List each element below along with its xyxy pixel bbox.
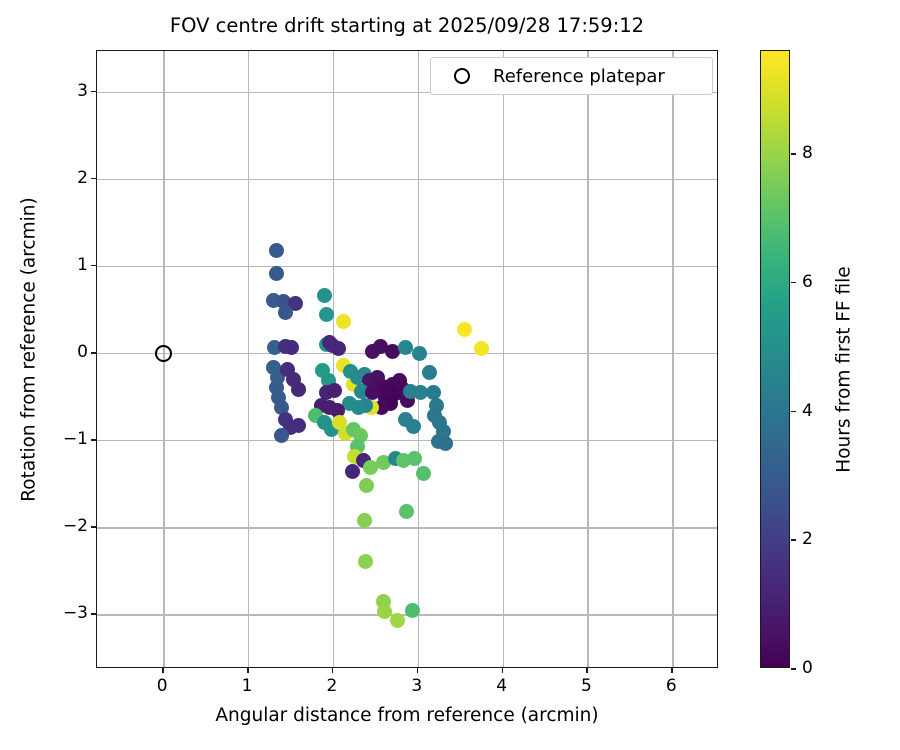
y-tick-label: −2 (63, 516, 88, 536)
y-axis-label: Rotation from reference (arcmin) (19, 41, 40, 659)
colorbar-tick-mark (791, 153, 796, 155)
figure-canvas: FOV centre drift starting at 2025/09/28 … (0, 0, 900, 750)
colorbar-tick-label: 2 (802, 529, 813, 549)
colorbar-tick-mark (791, 668, 796, 670)
colorbar-tick-mark (791, 282, 796, 284)
scatter-point (358, 554, 373, 569)
scatter-point (269, 243, 284, 258)
y-tick-mark (91, 439, 96, 441)
scatter-point (357, 513, 372, 528)
x-tick-label: 1 (242, 676, 253, 696)
x-tick-mark (162, 668, 164, 673)
y-tick-mark (91, 178, 96, 180)
scatter-point (317, 288, 332, 303)
scatter-point (406, 419, 421, 434)
scatter-point (422, 365, 437, 380)
scatter-point (407, 451, 422, 466)
colorbar-gradient (761, 51, 789, 667)
scatter-point (278, 305, 293, 320)
y-tick-mark (91, 352, 96, 354)
gridline-vertical (503, 51, 504, 667)
legend-marker-wrap (431, 68, 493, 84)
scatter-point (474, 341, 489, 356)
colorbar (760, 50, 790, 668)
reference-platepar-marker (155, 345, 172, 362)
gridline-horizontal (97, 179, 717, 180)
colorbar-tick-label: 0 (802, 658, 813, 678)
scatter-point (269, 266, 284, 281)
scatter-point (336, 314, 351, 329)
scatter-point (457, 322, 472, 337)
colorbar-tick-label: 6 (802, 272, 813, 292)
plot-area (97, 51, 717, 667)
x-tick-label: 6 (666, 676, 677, 696)
scatter-point (291, 418, 306, 433)
scatter-point (345, 464, 360, 479)
scatter-point (412, 346, 427, 361)
scatter-point (274, 428, 289, 443)
gridline-horizontal (97, 527, 717, 528)
legend: Reference platepar (430, 57, 713, 95)
x-tick-mark (332, 668, 334, 673)
scatter-point (399, 504, 414, 519)
gridline-vertical (248, 51, 249, 667)
y-tick-mark (91, 265, 96, 267)
gridline-vertical (587, 51, 588, 667)
scatter-point (322, 335, 337, 350)
x-tick-label: 3 (411, 676, 422, 696)
scatter-point (390, 613, 405, 628)
colorbar-tick-mark (791, 539, 796, 541)
scatter-point (359, 478, 374, 493)
y-tick-label: 0 (77, 342, 88, 362)
y-tick-label: 3 (77, 81, 88, 101)
x-tick-label: 0 (157, 676, 168, 696)
y-tick-mark (91, 526, 96, 528)
gridline-horizontal (97, 266, 717, 267)
gridline-horizontal (97, 440, 717, 441)
scatter-point (416, 466, 431, 481)
open-circle-icon (454, 68, 470, 84)
x-tick-mark (586, 668, 588, 673)
y-tick-mark (91, 91, 96, 93)
colorbar-tick-mark (791, 411, 796, 413)
x-tick-mark (417, 668, 419, 673)
x-tick-mark (247, 668, 249, 673)
x-tick-mark (671, 668, 673, 673)
x-tick-label: 2 (326, 676, 337, 696)
x-tick-label: 5 (581, 676, 592, 696)
scatter-point (327, 383, 342, 398)
colorbar-tick-label: 4 (802, 401, 813, 421)
scatter-point (438, 436, 453, 451)
gridline-vertical (333, 51, 334, 667)
colorbar-label: Hours from first FF file (834, 61, 855, 679)
x-tick-mark (502, 668, 504, 673)
legend-item-label: Reference platepar (493, 66, 665, 87)
scatter-point (319, 307, 334, 322)
y-tick-label: 1 (77, 255, 88, 275)
plot-frame (96, 50, 718, 668)
page-title: FOV centre drift starting at 2025/09/28 … (96, 14, 718, 37)
y-tick-label: −3 (63, 603, 88, 623)
y-tick-mark (91, 613, 96, 615)
x-tick-label: 4 (496, 676, 507, 696)
x-axis-label: Angular distance from reference (arcmin) (96, 705, 718, 726)
colorbar-tick-label: 8 (802, 143, 813, 163)
y-tick-label: 2 (77, 168, 88, 188)
scatter-point (291, 382, 306, 397)
gridline-vertical (672, 51, 673, 667)
y-tick-label: −1 (63, 429, 88, 449)
